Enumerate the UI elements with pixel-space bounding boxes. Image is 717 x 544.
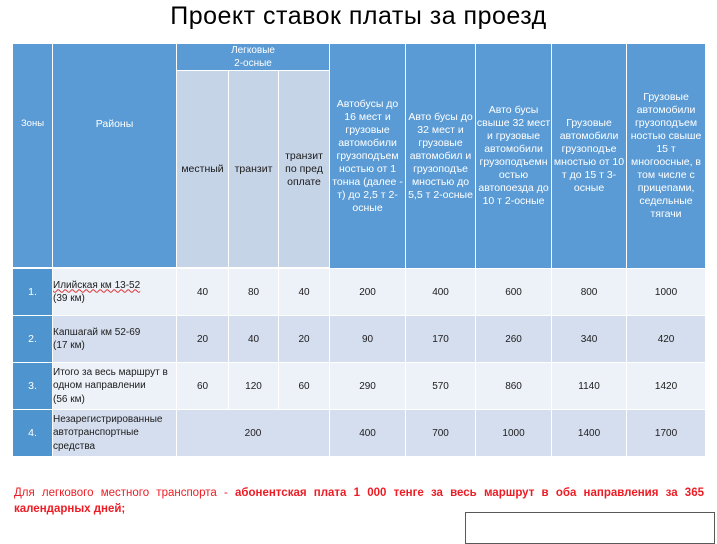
cell-bus-over32: 860: [476, 363, 552, 410]
cell-truck-10-15: 1140: [552, 363, 627, 410]
table-row: 2. Капшагай км 52-69 (17 км) 20 40 20 90…: [13, 316, 706, 363]
row-zone-number: 1.: [13, 269, 53, 316]
row-district-name: Незарегистрированные автотранспортные ср…: [53, 410, 177, 457]
header-truck-10-15: Грузовые автомобили грузоподъе мностью о…: [552, 44, 627, 269]
district-name-line1: Илийская км 13-52: [53, 280, 140, 291]
cell-cars-transit: 80: [229, 269, 279, 316]
row-district-name: Капшагай км 52-69 (17 км): [53, 316, 177, 363]
header-bus-over32: Авто бусы свыше 32 мест и грузовые автом…: [476, 44, 552, 269]
cell-cars-transit: 120: [229, 363, 279, 410]
district-name-line2: (56 км): [53, 394, 85, 405]
header-cars-group-line1: Легковые: [231, 45, 275, 56]
header-cars-transit-prepaid: транзит по пред оплате: [279, 71, 330, 268]
cell-truck-over15: 1420: [627, 363, 706, 410]
row-district-name: Итого за весь маршрут в одном направлени…: [53, 363, 177, 410]
cell-bus32: 400: [406, 269, 476, 316]
cell-cars-merged: 200: [177, 410, 330, 457]
table-header-row-1: Легковые 2-осные Автобусы до 16 мест и г…: [13, 44, 706, 71]
cell-truck-over15: 1700: [627, 410, 706, 457]
header-cars-local: местный: [177, 71, 229, 268]
header-districts-label: Районы: [53, 118, 177, 131]
toll-rates-table: Легковые 2-осные Автобусы до 16 мест и г…: [12, 43, 706, 457]
cell-bus32: 170: [406, 316, 476, 363]
cell-bus16: 200: [330, 269, 406, 316]
bottom-textbox-outline: [465, 512, 715, 544]
header-zones-label: Зоны: [13, 118, 53, 131]
table-row: 1. Илийская км 13-52 (39 км) 40 80 40 20…: [13, 269, 706, 316]
cell-cars-prepaid: 40: [279, 269, 330, 316]
district-name-line2: (39 км): [53, 293, 85, 304]
cell-cars-prepaid: 60: [279, 363, 330, 410]
cell-truck-10-15: 800: [552, 269, 627, 316]
cell-bus32: 700: [406, 410, 476, 457]
footnote-lead: Для легкового местного транспорта -: [14, 487, 235, 499]
row-zone-number: 4.: [13, 410, 53, 457]
cell-truck-over15: 420: [627, 316, 706, 363]
cell-truck-10-15: 1400: [552, 410, 627, 457]
header-cars-transit: транзит: [229, 71, 279, 268]
cell-cars-local: 40: [177, 269, 229, 316]
cell-bus-over32: 260: [476, 316, 552, 363]
cell-bus-over32: 1000: [476, 410, 552, 457]
cell-bus-over32: 600: [476, 269, 552, 316]
cell-truck-over15: 1000: [627, 269, 706, 316]
row-district-name: Илийская км 13-52 (39 км): [53, 269, 177, 316]
cell-bus16: 290: [330, 363, 406, 410]
table-row: 4. Незарегистрированные автотранспортные…: [13, 410, 706, 457]
header-zones-cell: [13, 44, 53, 268]
row-zone-number: 2.: [13, 316, 53, 363]
cell-bus16: 90: [330, 316, 406, 363]
row-zone-number: 3.: [13, 363, 53, 410]
page-title: Проект ставок платы за проезд: [0, 2, 717, 31]
table-row: 3. Итого за весь маршрут в одном направл…: [13, 363, 706, 410]
cell-cars-local: 60: [177, 363, 229, 410]
cell-bus16: 400: [330, 410, 406, 457]
header-cars-group-line2: 2-осные: [234, 58, 272, 69]
cell-cars-transit: 40: [229, 316, 279, 363]
header-bus32: Авто бусы до 32 мест и грузовые автомоби…: [406, 44, 476, 269]
slide-canvas: Проект ставок платы за проезд Легковые 2…: [0, 0, 717, 521]
district-name-line1: Незарегистрированные автотранспортные ср…: [53, 414, 162, 452]
district-name-line1: Капшагай км 52-69: [53, 327, 140, 338]
cell-cars-local: 20: [177, 316, 229, 363]
cell-truck-10-15: 340: [552, 316, 627, 363]
header-bus16: Автобусы до 16 мест и грузовые автомобил…: [330, 44, 406, 269]
district-name-line1: Итого за весь маршрут в одном направлени…: [53, 367, 168, 392]
header-cars-group: Легковые 2-осные: [177, 44, 330, 71]
header-truck-over15: Грузовые автомобили грузоподъем ностью с…: [627, 44, 706, 269]
header-districts-cell: [53, 44, 177, 268]
district-name-line2: (17 км): [53, 340, 85, 351]
cell-cars-prepaid: 20: [279, 316, 330, 363]
cell-bus32: 570: [406, 363, 476, 410]
